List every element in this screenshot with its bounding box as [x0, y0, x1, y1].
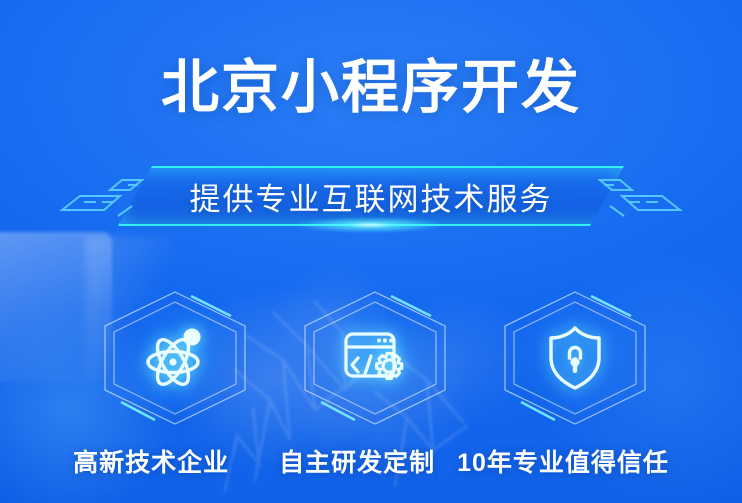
- feature-hexagon-row: [0, 288, 742, 428]
- code-window-gear-icon: [341, 320, 409, 392]
- shield-lock-icon: [541, 320, 609, 392]
- subtitle-text: 提供专业互联网技术服务: [118, 166, 624, 226]
- banner-stage: 北京小程序开发 提供专业互联网技术服务: [0, 0, 742, 503]
- page-title: 北京小程序开发: [0, 52, 742, 124]
- feature-caption-1: 高新技术企业: [73, 443, 229, 479]
- subtitle-banner-wrap: 提供专业互联网技术服务: [0, 166, 742, 228]
- subtitle-banner: 提供专业互联网技术服务: [118, 166, 624, 226]
- feature-captions: 高新技术企业 自主研发定制 10年专业值得信任: [0, 440, 742, 482]
- feature-caption-3: 10年专业值得信任: [457, 443, 669, 479]
- feature-item-1[interactable]: [95, 288, 255, 428]
- feature-item-2[interactable]: [295, 288, 455, 428]
- feature-caption-2: 自主研发定制: [279, 443, 435, 479]
- feature-item-3[interactable]: [495, 288, 655, 428]
- atom-icon: [141, 320, 209, 392]
